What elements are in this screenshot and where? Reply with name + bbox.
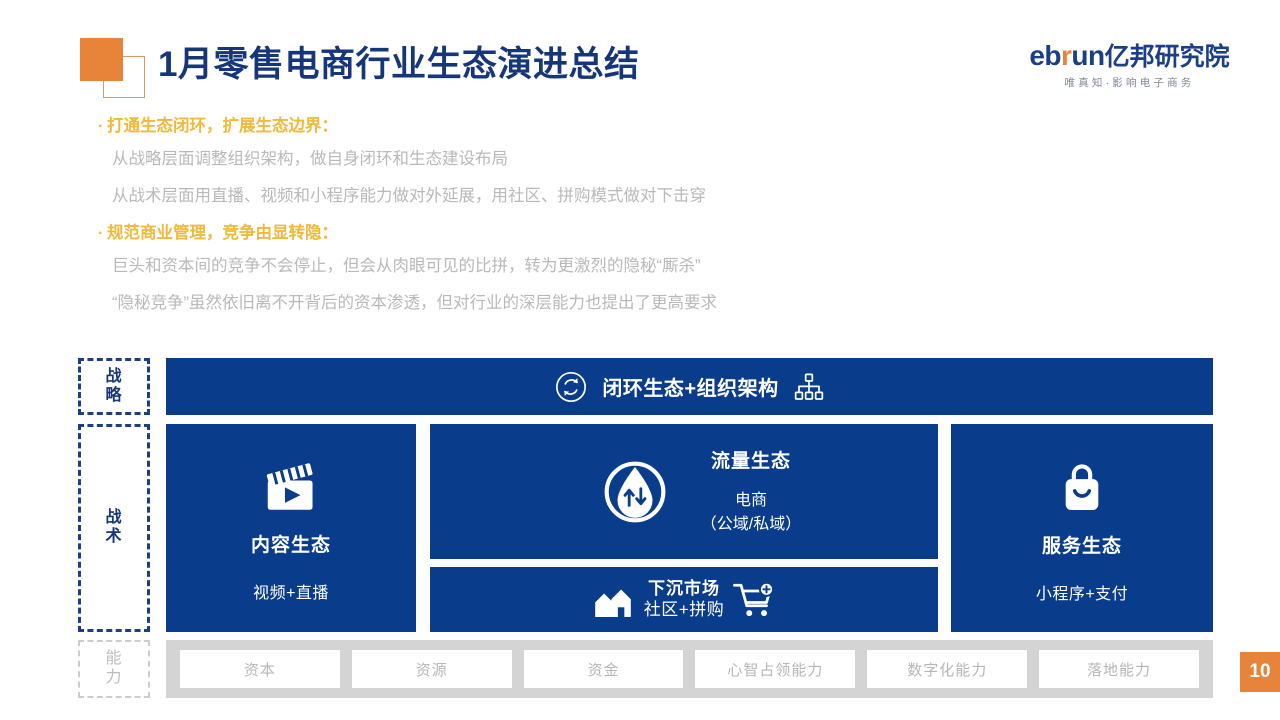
slide-header: 1月零售电商行业生态演进总结 ebrun亿邦研究院 唯真知·影响电子商务 — [0, 0, 1280, 105]
row-label-capability: 能 力 — [78, 640, 150, 698]
card-traffic-ecosystem[interactable]: 流量生态 电商 （公域/私域） — [430, 424, 938, 559]
row-label-strategy-char1: 战 — [105, 368, 122, 387]
strategy-bar[interactable]: 闭环生态+组织架构 — [166, 358, 1213, 415]
card-content-ecosystem[interactable]: 内容生态 视频+直播 — [166, 424, 416, 632]
bullet-2-line-2: “隐秘竞争”虽然依旧离不开背后的资本渗透，但对行业的深层能力也提出了更高要求 — [112, 289, 1198, 313]
clapperboard-play-icon — [260, 462, 322, 518]
card-service-ecosystem[interactable]: 服务生态 小程序+支付 — [951, 424, 1213, 632]
capability-strip: 资本 资源 资金 心智占领能力 数字化能力 落地能力 — [166, 640, 1213, 698]
logo-letter-e: e — [1029, 40, 1044, 71]
shopping-bag-smile-icon — [1053, 461, 1111, 519]
logo-tagline: 唯真知·影响电子商务 — [1027, 75, 1232, 90]
logo-chinese-name: 亿邦研究院 — [1105, 43, 1230, 71]
card-service-title: 服务生态 — [1042, 531, 1122, 558]
capability-chip-4[interactable]: 心智占领能力 — [695, 650, 855, 688]
header-decor-mark — [80, 38, 148, 98]
water-drop-arrows-icon — [595, 452, 675, 532]
org-chart-icon — [793, 372, 825, 402]
row-label-strategy-char2: 略 — [105, 387, 122, 406]
bullet-2-line-1: 巨头和资本间的竞争不会停止，但会从肉眼可见的比拼，转为更激烈的隐秘“厮杀” — [112, 252, 1198, 276]
houses-icon — [590, 583, 636, 617]
page-number-badge: 10 — [1240, 652, 1280, 692]
shopping-cart-plus-icon — [732, 580, 778, 620]
card-traffic-title: 流量生态 — [701, 446, 801, 473]
solid-square-shape — [80, 38, 123, 81]
card-traffic-line1: 电商 — [701, 489, 801, 513]
capability-chip-3[interactable]: 资金 — [524, 650, 684, 688]
row-label-capability-char1: 能 — [105, 650, 122, 669]
bullet-dot-icon: · — [98, 226, 107, 242]
logo-letter-r: r — [1061, 40, 1071, 71]
logo-letters-un: un — [1071, 40, 1104, 71]
card-sinking-subtitle: 社区+拼购 — [644, 600, 724, 621]
page-title: 1月零售电商行业生态演进总结 — [158, 36, 639, 87]
strategy-bar-label: 闭环生态+组织架构 — [602, 372, 778, 401]
bullet-heading-1: · 打通生态闭环，扩展生态边界： — [98, 112, 1198, 136]
bullet-1-line-1: 从战略层面调整组织架构，做自身闭环和生态建设布局 — [112, 145, 1198, 169]
bullet-heading-2: · 规范商业管理，竞争由显转隐： — [98, 219, 1198, 243]
card-service-subtitle: 小程序+支付 — [1036, 580, 1128, 604]
row-label-tactics-char2: 术 — [105, 528, 122, 547]
bullet-group-2: · 规范商业管理，竞争由显转隐： 巨头和资本间的竞争不会停止，但会从肉眼可见的比… — [98, 219, 1198, 313]
row-label-capability-char2: 力 — [105, 669, 122, 688]
row-label-tactics-char1: 战 — [105, 509, 122, 528]
card-traffic-line2: （公域/私域） — [701, 513, 801, 537]
bullet-group-1: · 打通生态闭环，扩展生态边界： 从战略层面调整组织架构，做自身闭环和生态建设布… — [98, 112, 1198, 206]
row-label-tactics: 战 术 — [78, 424, 150, 632]
card-sinking-market[interactable]: 下沉市场 社区+拼购 — [430, 567, 938, 632]
cycle-refresh-icon — [554, 370, 588, 404]
card-content-subtitle: 视频+直播 — [253, 579, 329, 603]
bullet-heading-1-text: 打通生态闭环，扩展生态边界： — [107, 112, 338, 136]
capability-chip-5[interactable]: 数字化能力 — [867, 650, 1027, 688]
bullet-1-line-2: 从战术层面用直播、视频和小程序能力做对外延展，用社区、拼购模式做对下击穿 — [112, 182, 1198, 206]
brand-logo: ebrun亿邦研究院 唯真知·影响电子商务 — [1027, 42, 1232, 90]
bullet-dot-icon: · — [98, 119, 107, 135]
bullet-heading-2-text: 规范商业管理，竞争由显转隐： — [107, 219, 338, 243]
card-sinking-title: 下沉市场 — [644, 579, 724, 600]
capability-chip-2[interactable]: 资源 — [352, 650, 512, 688]
ecosystem-diagram: 战 略 战 术 能 力 闭环生态+组织架构 — [78, 352, 1213, 704]
logo-letter-b: b — [1044, 40, 1061, 71]
capability-chip-6[interactable]: 落地能力 — [1039, 650, 1199, 688]
card-content-title: 内容生态 — [251, 530, 331, 557]
row-label-strategy: 战 略 — [78, 358, 150, 415]
logo-wordmark: ebrun亿邦研究院 — [1027, 42, 1232, 70]
summary-text-block: · 打通生态闭环，扩展生态边界： 从战略层面调整组织架构，做自身闭环和生态建设布… — [98, 112, 1198, 326]
capability-chip-1[interactable]: 资本 — [180, 650, 340, 688]
